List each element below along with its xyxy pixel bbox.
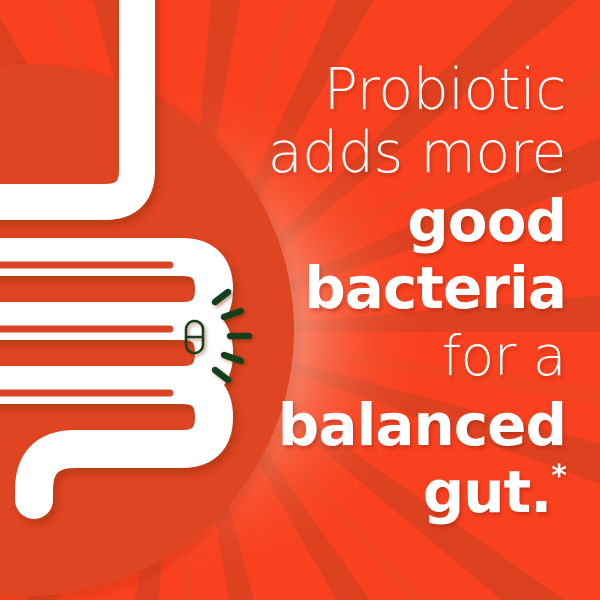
footnote-asterisk: * (551, 459, 566, 494)
headline-line-2: adds more (136, 125, 566, 182)
headline-line-1: Probiotic (136, 62, 566, 119)
headline-line-7-text: gut. (423, 458, 552, 526)
promo-graphic: Probiotic adds more good bacteria for a … (0, 0, 600, 600)
headline-line-5: for a (136, 329, 566, 384)
headline-line-7: gut.* (136, 462, 566, 521)
headline-line-6: balanced (136, 396, 566, 454)
headline-line-3: good (136, 192, 566, 250)
headline-block: Probiotic adds more good bacteria for a … (136, 62, 566, 521)
headline-line-4: bacteria (136, 259, 566, 317)
